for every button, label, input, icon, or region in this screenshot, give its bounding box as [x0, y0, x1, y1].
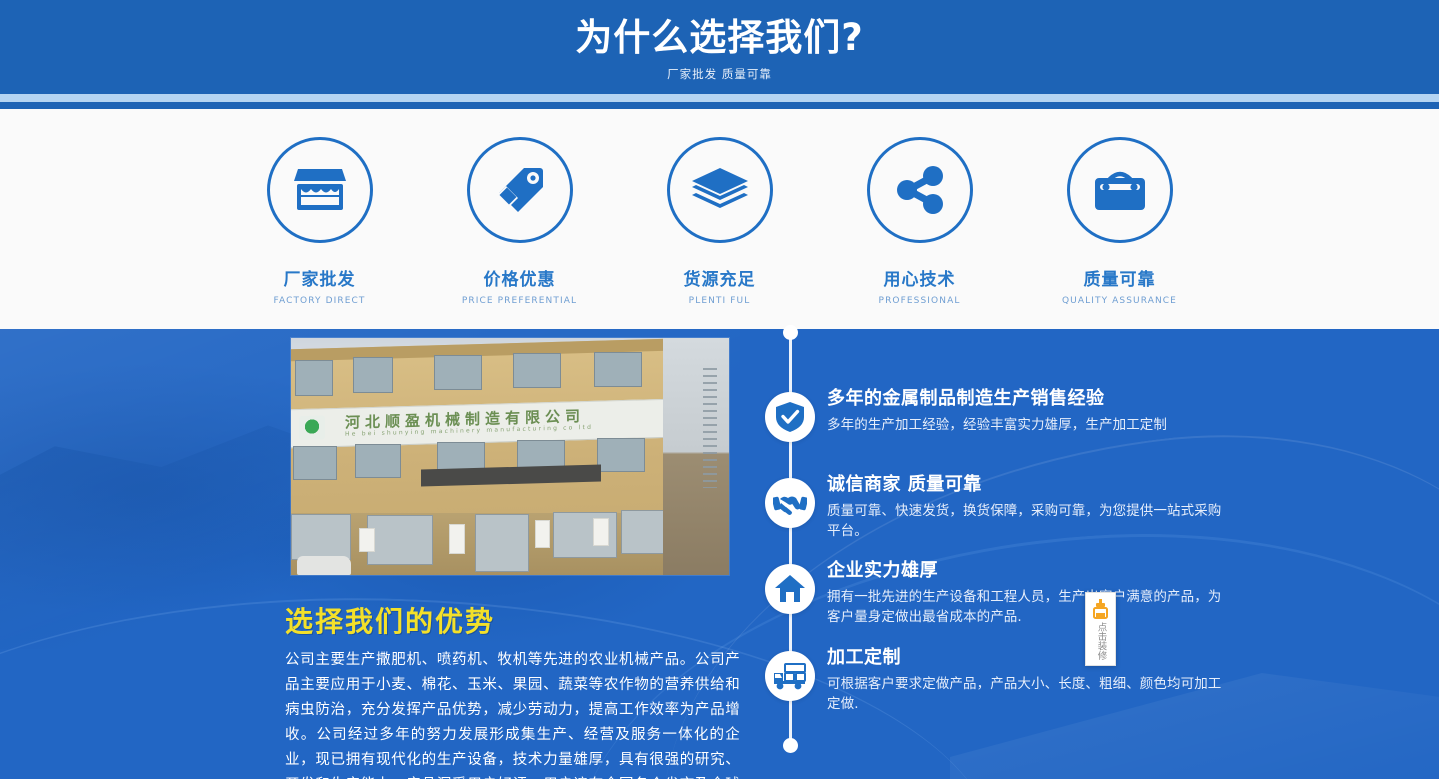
truck-icon: [765, 651, 815, 701]
feature-english: QUALITY ASSURANCE: [1062, 296, 1177, 306]
photo-right-edge: [663, 338, 729, 575]
feature-item-quality-assurance[interactable]: 质量可靠 QUALITY ASSURANCE: [1046, 137, 1194, 306]
page-title: 为什么选择我们?: [0, 14, 1439, 62]
feature-band: 厂家批发 FACTORY DIRECT 价格优惠 PRICE PREFERENT…: [0, 109, 1439, 329]
feature-item-price-preferential[interactable]: 价格优惠 PRICE PREFERENTIAL: [446, 137, 594, 306]
timeline-body: 诚信商家 质量可靠 质量可靠、快速发货，换货保障，采购可靠，为您提供一站式采购平…: [827, 470, 1227, 541]
timeline-title: 加工定制: [827, 643, 1227, 669]
timeline-dot-bottom: [783, 738, 798, 753]
advantage-paragraph: 公司主要生产撒肥机、喷药机、牧机等先进的农业机械产品。公司产品主要应用于小麦、棉…: [285, 648, 740, 779]
timeline-dot-top: [783, 325, 798, 340]
feature-english: PLENTI FUL: [689, 296, 751, 306]
factory-photo: 河北顺盈机械制造有限公司 He bei shunying machinery m…: [291, 338, 729, 575]
feature-english: FACTORY DIRECT: [274, 296, 366, 306]
photo-tower: [703, 368, 717, 488]
decorate-float-label: 点击装修: [1095, 622, 1107, 660]
price-tag-icon: [467, 137, 573, 243]
timeline-body: 多年的金属制品制造生产销售经验 多年的生产加工经验，经验丰富实力雄厚，生产加工定…: [827, 384, 1227, 435]
share-nodes-icon: [867, 137, 973, 243]
timeline-desc: 质量可靠、快速发货，换货保障，采购可靠，为您提供一站式采购平台。: [827, 501, 1227, 541]
timeline-body: 加工定制 可根据客户要求定做产品，产品大小、长度、粗细、颜色均可加工定做.: [827, 643, 1227, 714]
briefcase-icon: [1067, 137, 1173, 243]
timeline-desc: 拥有一批先进的生产设备和工程人员，生产出客户满意的产品，为客户量身定做出最省成本…: [827, 587, 1227, 627]
storefront-icon: [267, 137, 373, 243]
photo-vehicle: [297, 556, 351, 575]
feature-label: 货源充足: [684, 265, 756, 290]
feature-label: 厂家批发: [284, 265, 356, 290]
shield-check-icon: [765, 392, 815, 442]
divider-light: [0, 94, 1439, 102]
paintbrush-icon: [1092, 599, 1109, 619]
feature-item-factory-direct[interactable]: 厂家批发 FACTORY DIRECT: [246, 137, 394, 306]
feature-label: 价格优惠: [484, 265, 556, 290]
feature-list: 厂家批发 FACTORY DIRECT 价格优惠 PRICE PREFERENT…: [0, 137, 1439, 306]
timeline-desc: 可根据客户要求定做产品，产品大小、长度、粗细、颜色均可加工定做.: [827, 674, 1227, 714]
feature-english: PRICE PREFERENTIAL: [462, 296, 577, 306]
page-header: 为什么选择我们? 厂家批发 质量可靠: [0, 0, 1439, 94]
timeline-desc: 多年的生产加工经验，经验丰富实力雄厚，生产加工定制: [827, 415, 1227, 435]
decorate-float-button[interactable]: 点击装修: [1085, 592, 1116, 666]
handshake-icon: [765, 478, 815, 528]
timeline-title: 企业实力雄厚: [827, 556, 1227, 582]
timeline-body: 企业实力雄厚 拥有一批先进的生产设备和工程人员，生产出客户满意的产品，为客户量身…: [827, 556, 1227, 627]
page-subtitle: 厂家批发 质量可靠: [0, 66, 1439, 82]
layers-icon: [667, 137, 773, 243]
feature-label: 质量可靠: [1084, 265, 1156, 290]
timeline-title: 多年的金属制品制造生产销售经验: [827, 384, 1227, 410]
feature-english: PROFESSIONAL: [879, 296, 961, 306]
home-icon: [765, 564, 815, 614]
photo-banner-logo: [299, 415, 325, 440]
timeline-title: 诚信商家 质量可靠: [827, 470, 1227, 496]
feature-item-plentiful[interactable]: 货源充足 PLENTI FUL: [646, 137, 794, 306]
advantage-title: 选择我们的优势: [285, 600, 495, 640]
feature-label: 用心技术: [884, 265, 956, 290]
divider-dark: [0, 102, 1439, 109]
page-root: 为什么选择我们? 厂家批发 质量可靠 厂家批发 FACTORY DIRECT: [0, 0, 1439, 779]
feature-item-professional[interactable]: 用心技术 PROFESSIONAL: [846, 137, 994, 306]
